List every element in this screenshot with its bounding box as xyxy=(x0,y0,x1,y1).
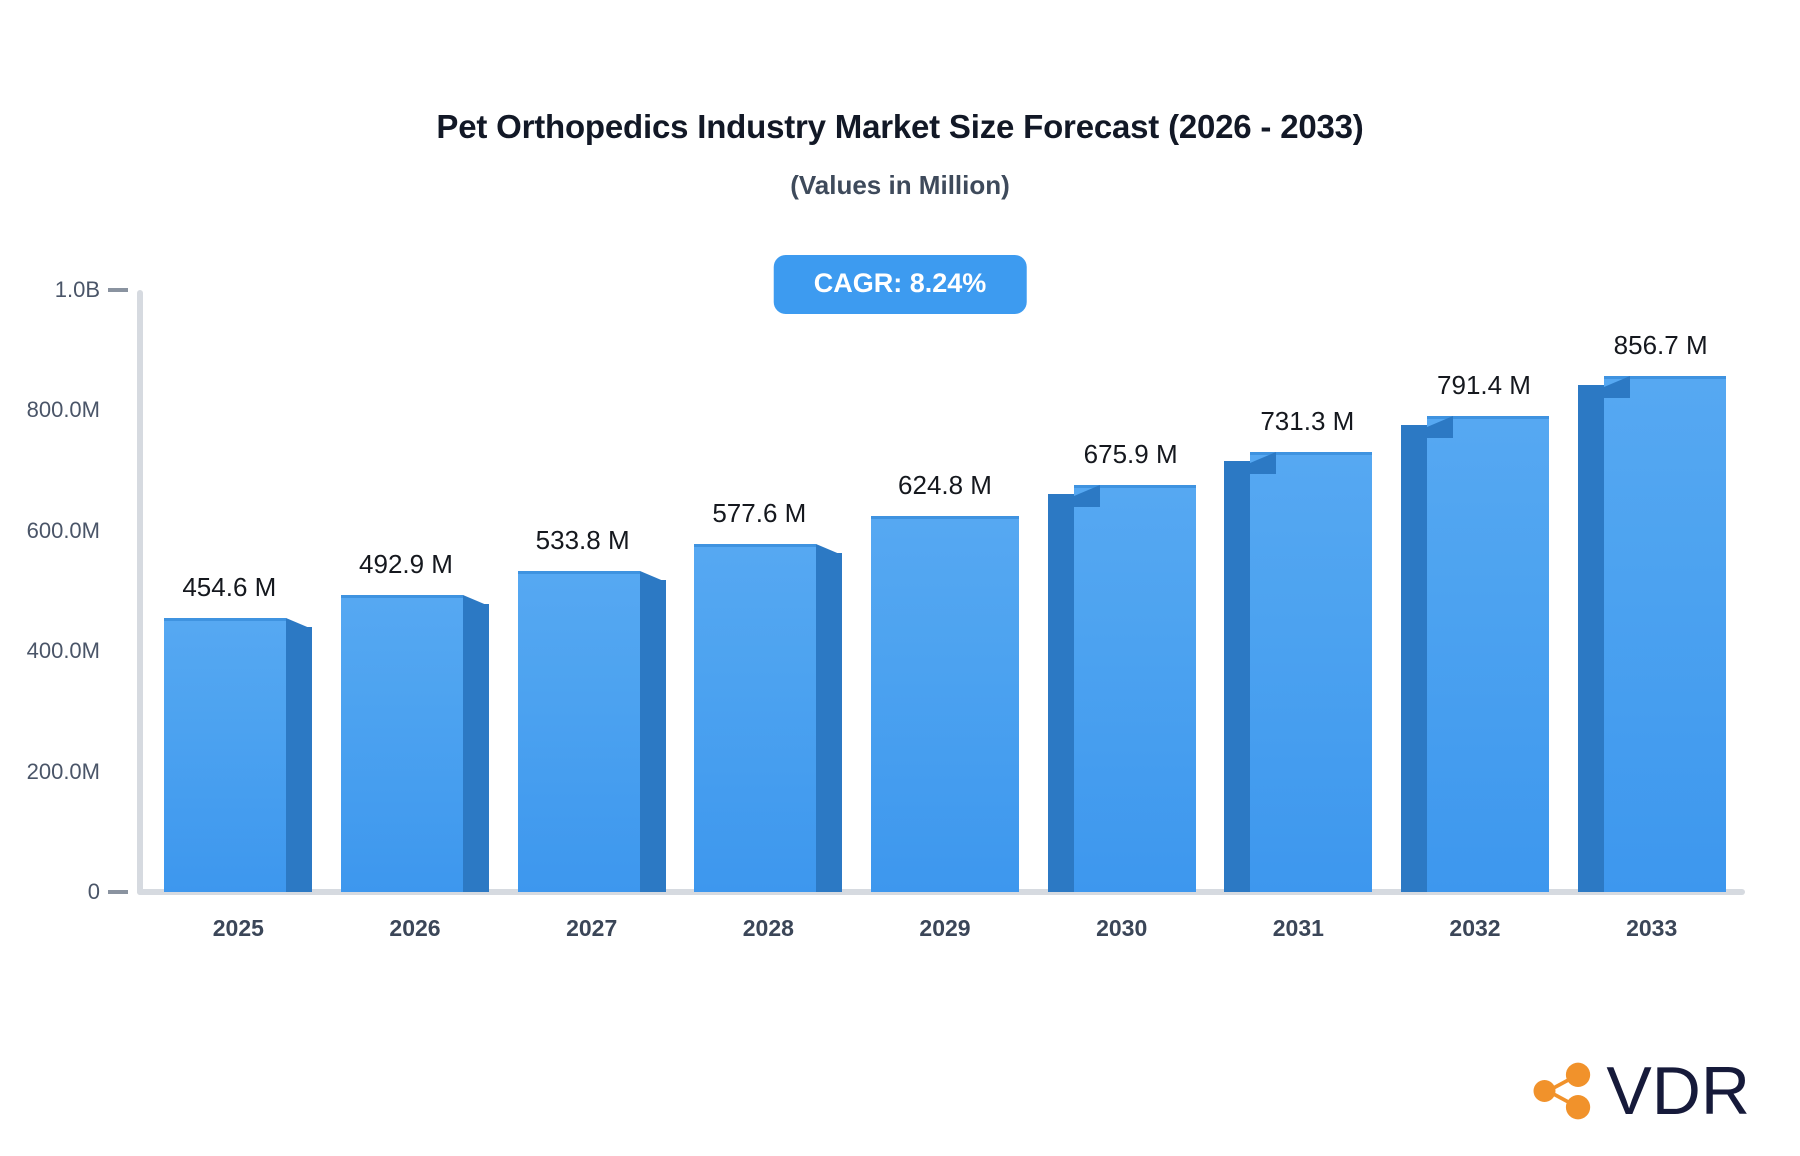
vdr-logo: VDR xyxy=(1526,1054,1750,1128)
y-axis-tick-label: 1.0B xyxy=(0,277,100,303)
y-axis-tick-mark xyxy=(108,288,128,292)
bar-front-face xyxy=(341,595,463,892)
x-axis-label-2029: 2029 xyxy=(919,915,970,942)
bar-value-label: 675.9 M xyxy=(1084,439,1178,470)
bar-2029[interactable] xyxy=(871,516,1019,892)
x-axis-label-2028: 2028 xyxy=(743,915,794,942)
y-axis-tick-label: 400.0M xyxy=(0,638,100,664)
y-axis-tick-label: 0 xyxy=(0,879,100,905)
bar-front-face xyxy=(1250,452,1372,892)
bar-value-label: 492.9 M xyxy=(359,549,453,580)
bar-side-face xyxy=(463,604,489,892)
bar-front-face xyxy=(518,571,640,892)
y-axis-tick-label: 800.0M xyxy=(0,397,100,423)
bar-value-label: 454.6 M xyxy=(182,572,276,603)
bar-2026[interactable] xyxy=(341,595,489,892)
bar-side-face xyxy=(1048,494,1074,892)
bar-side-face xyxy=(640,580,666,892)
bar-value-label: 533.8 M xyxy=(536,525,630,556)
bar-top-bevel xyxy=(1401,416,1453,438)
y-axis-tick-label: 200.0M xyxy=(0,759,100,785)
bar-2028[interactable] xyxy=(694,544,842,892)
bar-side-face xyxy=(1578,385,1604,892)
bar-front-face xyxy=(694,544,816,892)
bar-front-face xyxy=(1427,416,1549,892)
bar-2032[interactable] xyxy=(1401,416,1549,892)
x-axis-label-2031: 2031 xyxy=(1273,915,1324,942)
x-axis-label-2033: 2033 xyxy=(1626,915,1677,942)
bar-top-bevel xyxy=(640,571,692,593)
bar-value-label: 856.7 M xyxy=(1614,330,1708,361)
bar-top-bevel xyxy=(1224,452,1276,474)
bar-front-face xyxy=(871,516,1019,892)
bar-front-face xyxy=(164,618,286,892)
y-axis-tick-label: 600.0M xyxy=(0,518,100,544)
y-axis-line xyxy=(137,290,143,895)
bar-value-label: 577.6 M xyxy=(712,498,806,529)
bar-side-face xyxy=(1401,425,1427,892)
bar-2025[interactable] xyxy=(164,618,312,892)
bar-value-label: 624.8 M xyxy=(898,470,992,501)
bar-top-bevel xyxy=(1578,376,1630,398)
bar-front-face xyxy=(1604,376,1726,892)
bar-front-face xyxy=(1074,485,1196,892)
x-axis-label-2027: 2027 xyxy=(566,915,617,942)
bar-side-face xyxy=(1224,461,1250,892)
bar-top-bevel xyxy=(1048,485,1100,507)
bar-2027[interactable] xyxy=(518,571,666,892)
bar-chart-plot: 0200.0M400.0M600.0M800.0M1.0B 454.6 M492… xyxy=(0,0,1800,1156)
x-axis-label-2025: 2025 xyxy=(213,915,264,942)
bar-side-face xyxy=(286,627,312,892)
x-axis-label-2026: 2026 xyxy=(389,915,440,942)
x-axis-label-2032: 2032 xyxy=(1449,915,1500,942)
vdr-wordmark: VDR xyxy=(1606,1057,1750,1125)
bar-2033[interactable] xyxy=(1578,376,1726,892)
bar-2031[interactable] xyxy=(1224,452,1372,892)
bar-value-label: 731.3 M xyxy=(1260,406,1354,437)
bar-value-label: 791.4 M xyxy=(1437,370,1531,401)
y-axis-tick-mark xyxy=(108,890,128,894)
bar-top-bevel xyxy=(286,618,338,640)
bar-top-bevel xyxy=(463,595,515,617)
x-axis-label-2030: 2030 xyxy=(1096,915,1147,942)
bar-2030[interactable] xyxy=(1048,485,1196,892)
share-network-icon xyxy=(1526,1054,1600,1128)
bar-top-bevel xyxy=(816,544,868,566)
bar-side-face xyxy=(816,553,842,892)
